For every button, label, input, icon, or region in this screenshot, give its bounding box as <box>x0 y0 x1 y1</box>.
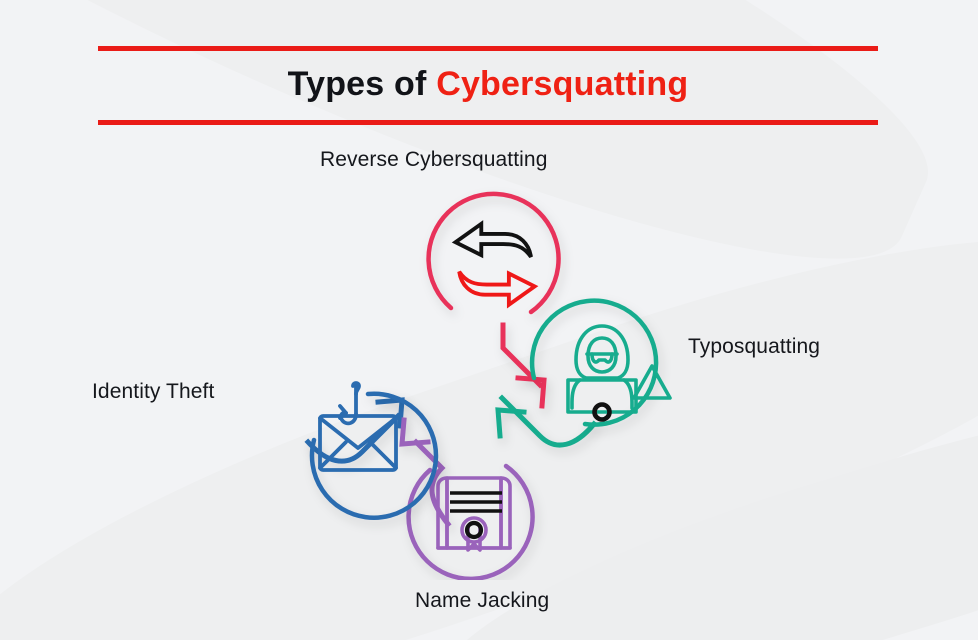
infographic-page: Types of Cybersquatting Reverse Cybersqu… <box>0 0 978 640</box>
page-title-accent: Cybersquatting <box>436 65 688 103</box>
arrow-right-to-bottom <box>498 398 594 445</box>
exchange-arrows-icon <box>456 224 535 305</box>
header: Types of Cybersquatting <box>98 46 878 125</box>
hacker-laptop-icon <box>568 326 670 412</box>
certificate-text-lines <box>450 493 502 511</box>
node-label-reverse-cybersquatting: Reverse Cybersquatting <box>320 148 547 172</box>
node-label-name-jacking: Name Jacking <box>415 589 549 613</box>
node-typosquatting[interactable] <box>532 301 670 425</box>
node-identity-theft[interactable] <box>312 383 436 518</box>
header-rule-bottom <box>98 120 878 125</box>
node-reverse-cybersquatting[interactable] <box>429 194 559 312</box>
cycle-diagram <box>250 180 710 580</box>
node-label-identity-theft: Identity Theft <box>92 380 214 404</box>
page-title: Types of Cybersquatting <box>98 51 878 120</box>
certificate-icon <box>438 478 510 550</box>
page-title-plain: Types of <box>288 65 437 103</box>
